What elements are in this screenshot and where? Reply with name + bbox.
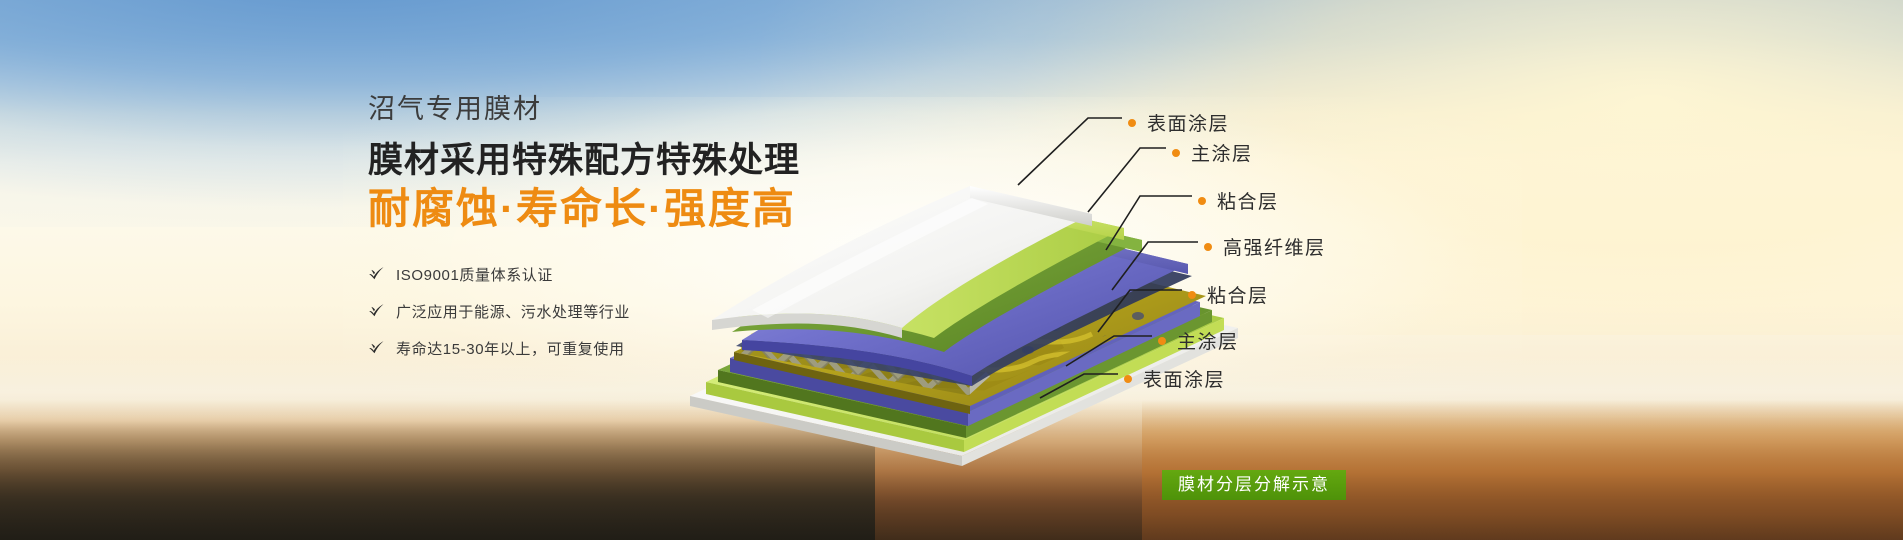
callout-dot-icon — [1204, 243, 1212, 251]
list-item-label: 广泛应用于能源、污水处理等行业 — [396, 301, 630, 322]
callout-surface-coat-bottom: 表面涂层 — [1124, 365, 1225, 392]
callout-label: 主涂层 — [1191, 139, 1253, 166]
list-item-label: 寿命达15-30年以上，可重复使用 — [396, 338, 625, 359]
check-icon — [368, 303, 385, 320]
callout-fiber-core: 高强纤维层 — [1204, 233, 1326, 260]
callout-adhesive-top: 粘合层 — [1198, 187, 1279, 214]
check-icon — [368, 340, 385, 357]
callout-adhesive-bottom: 粘合层 — [1188, 281, 1269, 308]
callout-main-coat-bottom: 主涂层 — [1158, 327, 1239, 354]
callout-label: 粘合层 — [1207, 281, 1269, 308]
callout-surface-coat-top: 表面涂层 — [1128, 109, 1229, 136]
callout-dot-icon — [1172, 149, 1180, 157]
check-icon — [368, 266, 385, 283]
callout-label: 表面涂层 — [1147, 109, 1229, 136]
eyebrow-text: 沼气专用膜材 — [368, 96, 838, 123]
callout-label: 主涂层 — [1177, 327, 1239, 354]
diagram-caption-badge: 膜材分层分解示意 — [1162, 470, 1346, 500]
callout-dot-icon — [1158, 337, 1166, 345]
callout-dot-icon — [1124, 375, 1132, 383]
callout-dot-icon — [1128, 119, 1136, 127]
page-title: 膜材采用特殊配方特殊处理 — [368, 140, 838, 181]
callout-label: 粘合层 — [1217, 187, 1279, 214]
callout-label: 表面涂层 — [1143, 365, 1225, 392]
callout-main-coat-top: 主涂层 — [1172, 139, 1253, 166]
list-item-label: ISO9001质量体系认证 — [396, 264, 553, 285]
callout-dot-icon — [1198, 197, 1206, 205]
promo-banner: 沼气专用膜材 膜材采用特殊配方特殊处理 耐腐蚀·寿命长·强度高 ISO9001质… — [0, 0, 1903, 540]
callout-dot-icon — [1188, 291, 1196, 299]
callout-label: 高强纤维层 — [1223, 233, 1326, 260]
